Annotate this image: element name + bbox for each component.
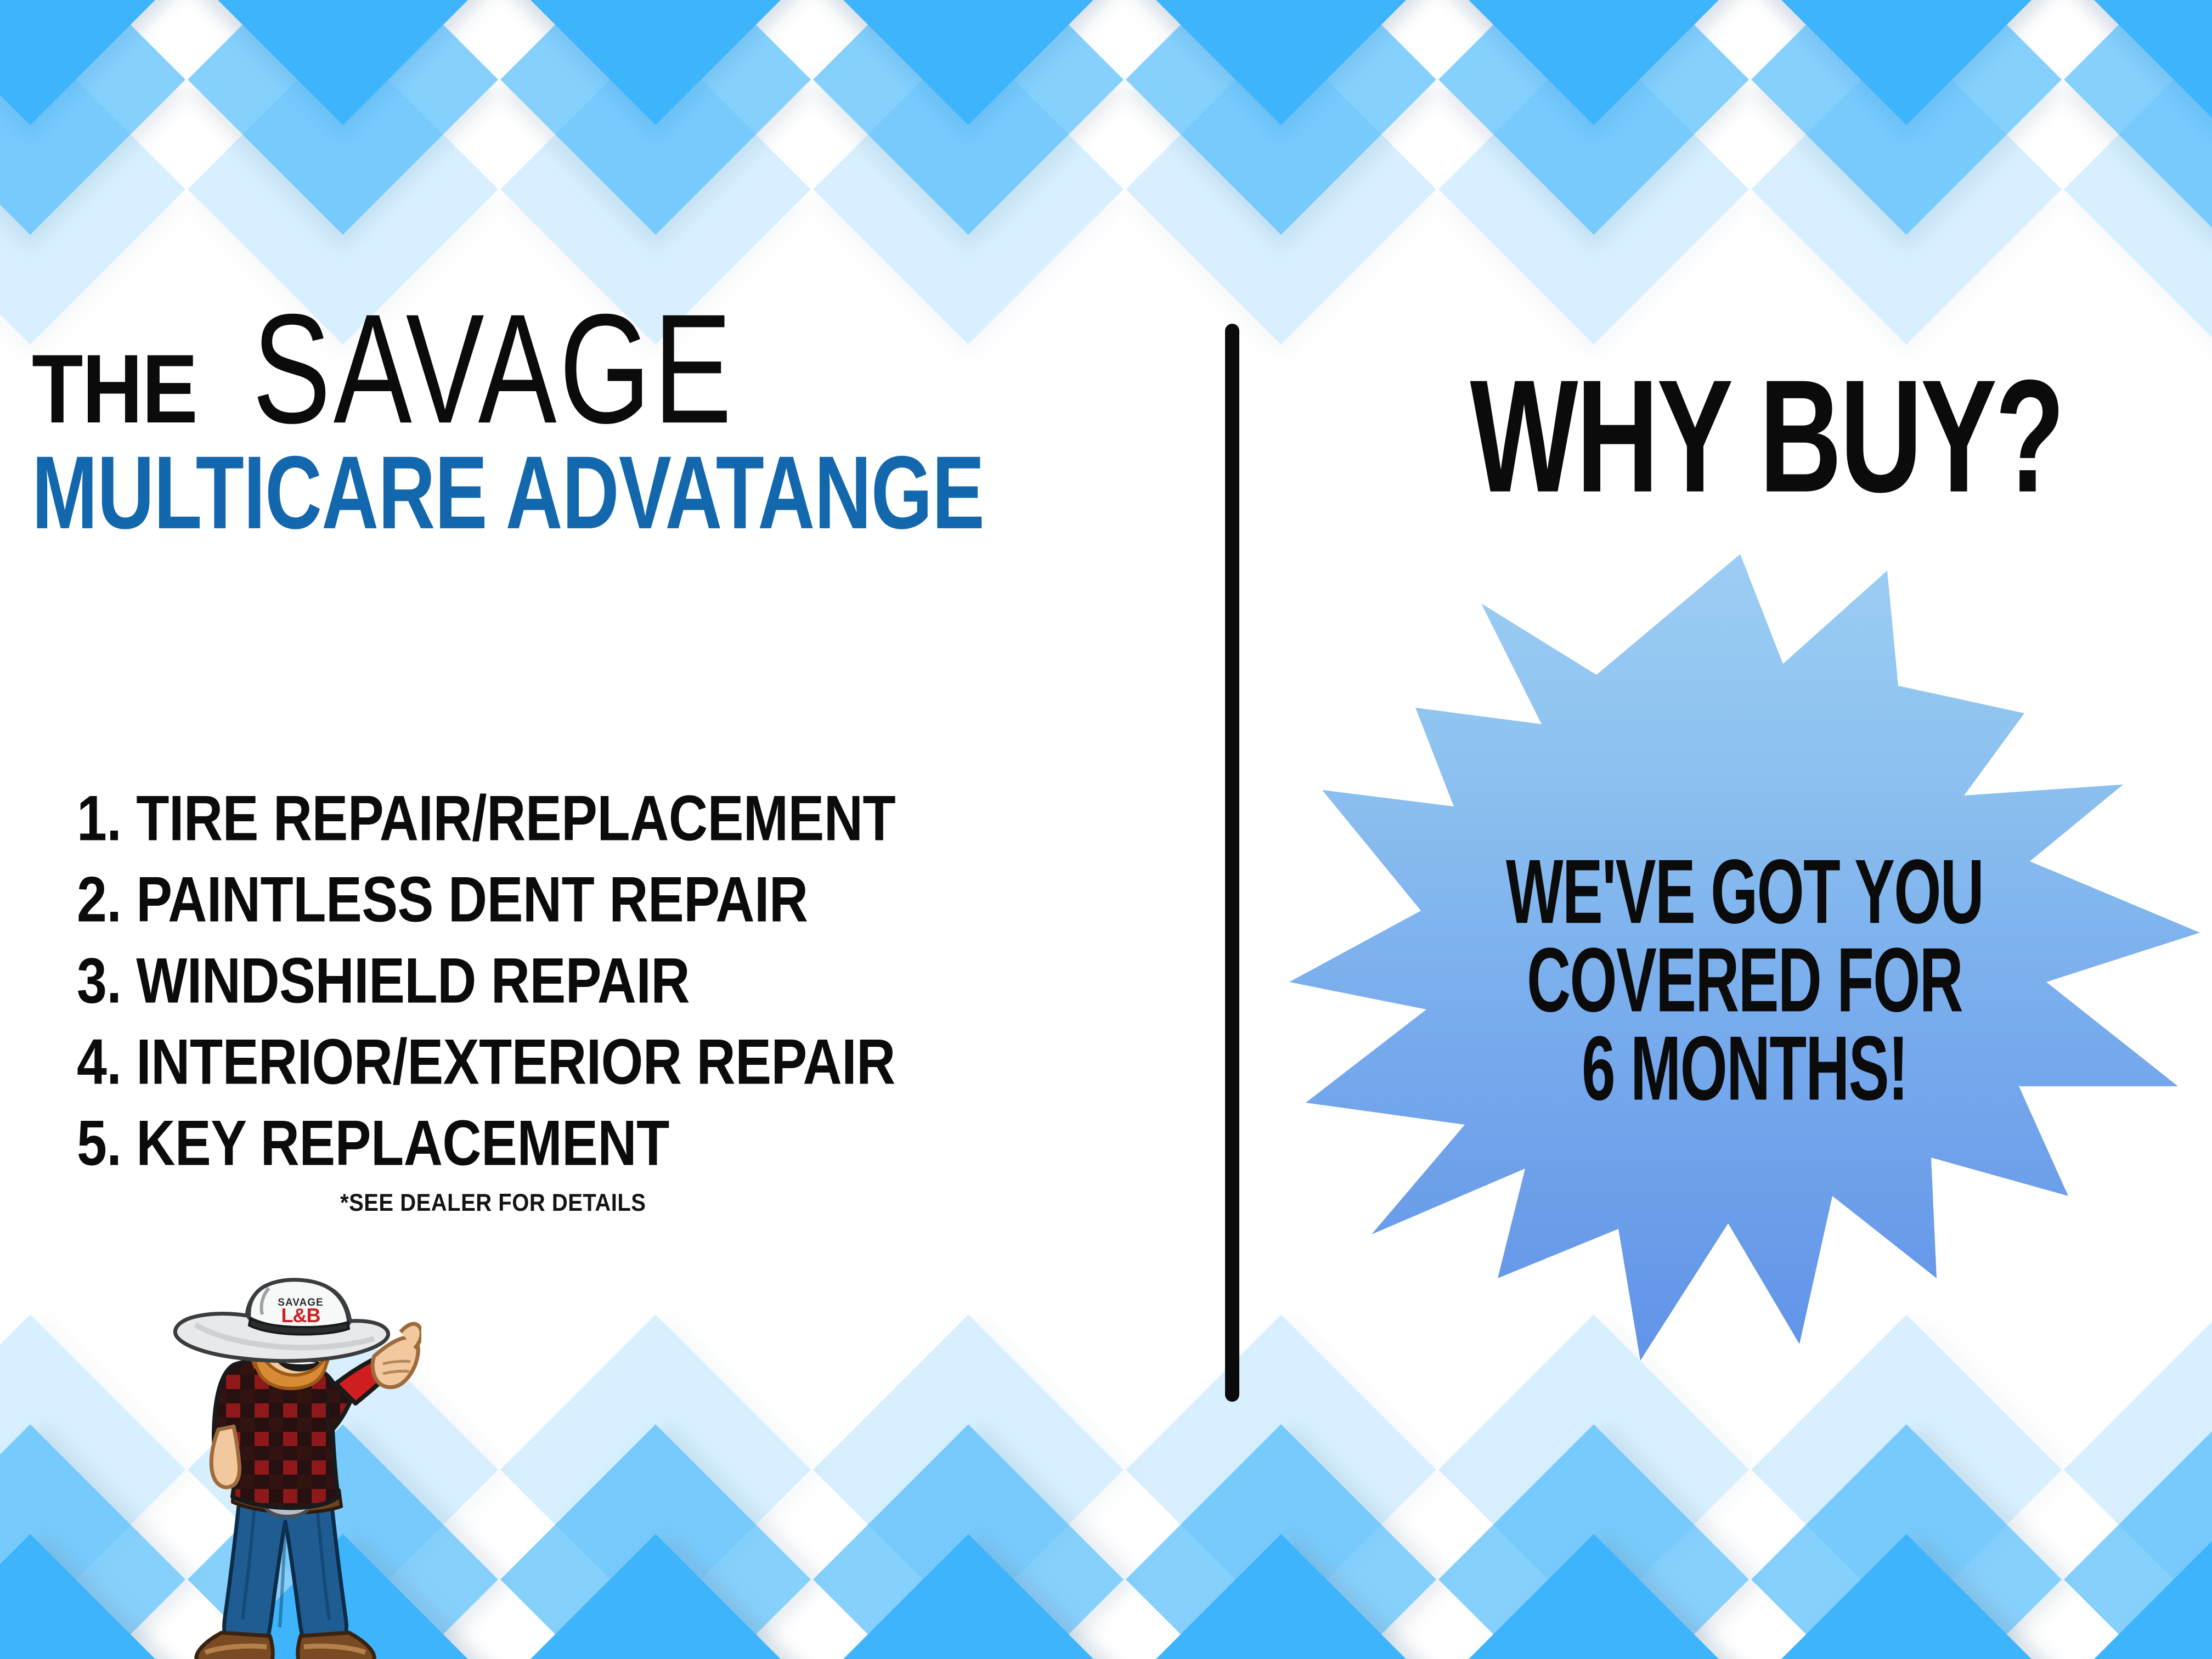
list-item: 5. KEY REPLACEMENT [77, 1099, 1072, 1188]
brand-logo-block: THE SAVAGE MULTICARE ADVATANGE [32, 313, 1156, 526]
brand-name: SAVAGE [252, 306, 735, 431]
burst-line-1: WE'VE GOT YOU [1344, 848, 2146, 936]
disclaimer-text: *SEE DEALER FOR DETAILS [340, 1189, 646, 1217]
vertical-divider [1225, 324, 1239, 1402]
starburst-badge: WE'VE GOT YOU COVERED FOR 6 MONTHS! [1289, 549, 2200, 1404]
program-title: MULTICARE ADVATANGE [32, 441, 1078, 544]
why-buy-headline: WHY BUY? [1421, 357, 2112, 517]
list-item: 4. INTERIOR/EXTERIOR REPAIR [77, 1018, 1072, 1107]
brand-the-word: THE [32, 347, 197, 431]
list-item: 2. PAINTLESS DENT REPAIR [77, 855, 1072, 945]
promotional-poster: THE SAVAGE MULTICARE ADVATANGE 1. TIRE R… [0, 0, 2212, 1659]
hat-logo-main-text: L&B [281, 1304, 320, 1327]
burst-line-3: 6 MONTHS! [1344, 1024, 2146, 1113]
mascot-cowboy-illustration: SAVAGE L&B [153, 1249, 421, 1659]
starburst-text: WE'VE GOT YOU COVERED FOR 6 MONTHS! [1344, 848, 2146, 1113]
mascot-left-arm [211, 1426, 239, 1487]
list-item: 3. WINDSHIELD REPAIR [77, 936, 1072, 1026]
service-list: 1. TIRE REPAIR/REPLACEMENT 2. PAINTLESS … [77, 778, 1147, 1184]
brand-logo-row: THE SAVAGE [32, 313, 1156, 431]
mascot-cowboy-hat: SAVAGE L&B [175, 1280, 388, 1361]
mascot-boots [196, 1633, 374, 1659]
list-item: 1. TIRE REPAIR/REPLACEMENT [77, 774, 1072, 864]
left-panel: THE SAVAGE MULTICARE ADVATANGE 1. TIRE R… [0, 0, 1207, 1659]
burst-line-2: COVERED FOR [1344, 936, 2146, 1024]
